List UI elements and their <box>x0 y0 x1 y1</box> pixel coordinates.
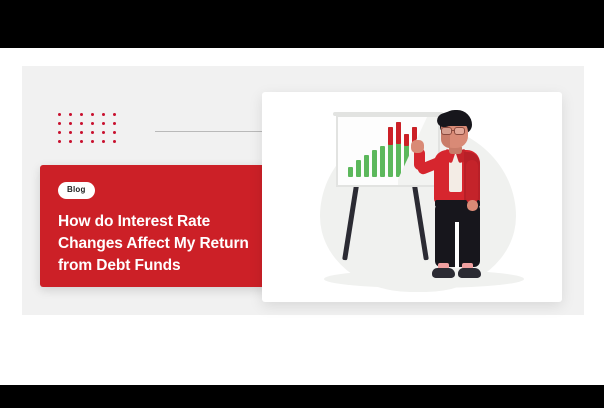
illustration-canvas <box>262 92 562 302</box>
shoe-left <box>432 268 455 278</box>
glasses-lens-right <box>454 127 465 135</box>
grid-dot <box>80 122 83 125</box>
status-badge: Blog <box>58 182 95 199</box>
grid-dot <box>58 122 61 125</box>
grid-dot <box>113 140 116 143</box>
grid-dot <box>113 131 116 134</box>
grid-dot <box>58 131 61 134</box>
grid-dot <box>69 113 72 116</box>
leg-gap <box>455 222 459 268</box>
grid-dot <box>58 140 61 143</box>
lowered-arm <box>466 160 478 204</box>
chart-bar <box>356 160 361 177</box>
grid-dot <box>91 131 94 134</box>
chart-bar-cap <box>388 127 393 145</box>
grid-dot <box>102 113 105 116</box>
chart-bar <box>372 150 377 177</box>
chart-bar <box>348 167 353 177</box>
grid-dot <box>113 122 116 125</box>
chart-bar <box>380 146 385 177</box>
grid-dot <box>91 122 94 125</box>
blog-headline-card[interactable]: Blog How do Interest Rate Changes Affect… <box>40 165 300 287</box>
grid-dot <box>69 140 72 143</box>
grid-dot <box>102 131 105 134</box>
pointing-hand <box>411 140 424 153</box>
grid-dot <box>102 122 105 125</box>
headline-line: Changes Affect My Return <box>58 233 282 255</box>
chart-bar <box>364 155 369 177</box>
grid-dot <box>80 131 83 134</box>
headline-line: from Debt Funds <box>58 255 282 277</box>
grid-dot <box>80 140 83 143</box>
dot-grid-decoration <box>58 113 124 149</box>
grid-dot <box>102 140 105 143</box>
grid-dot <box>69 131 72 134</box>
illustration-card <box>262 92 562 302</box>
grid-dot <box>80 113 83 116</box>
headline-line: How do Interest Rate <box>58 211 282 233</box>
screenshot-stage: Blog How do Interest Rate Changes Affect… <box>0 0 604 408</box>
grid-dot <box>91 140 94 143</box>
shoe-right <box>458 268 481 278</box>
glasses-bridge <box>451 130 455 131</box>
grid-dot <box>69 122 72 125</box>
grid-dot <box>58 113 61 116</box>
page-title: How do Interest Rate Changes Affect My R… <box>58 211 282 277</box>
lowered-hand <box>467 200 478 211</box>
grid-dot <box>91 113 94 116</box>
grid-dot <box>113 113 116 116</box>
chart-bar <box>388 127 393 177</box>
presenter-figure <box>410 110 506 292</box>
horizontal-rule-decoration <box>155 131 265 132</box>
